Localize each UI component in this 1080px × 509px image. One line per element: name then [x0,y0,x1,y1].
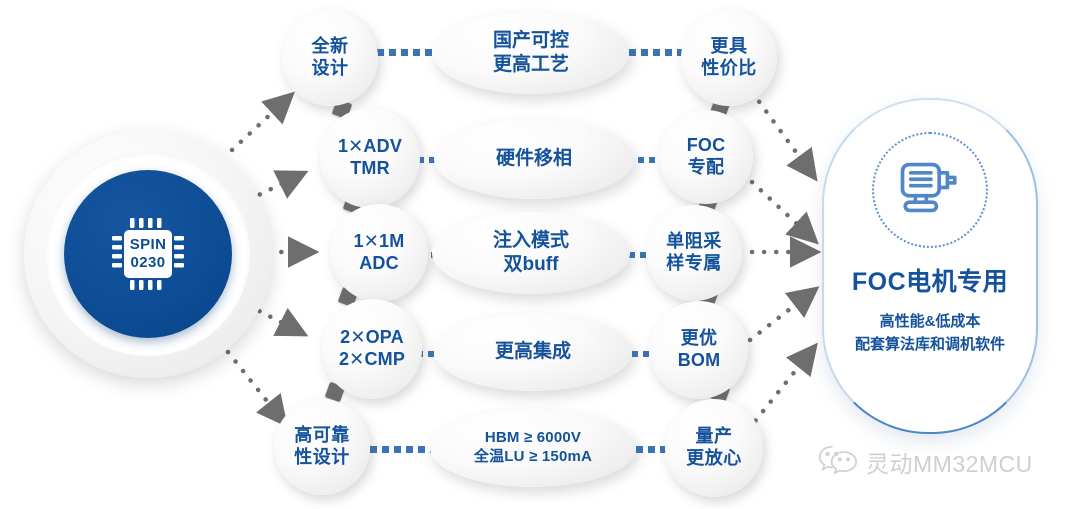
arrow-foc-to-panel [752,182,812,238]
node-single-shunt-line2: 样专属 [666,253,722,275]
hub-core: SPIN 0230 [64,170,232,338]
arrow-bom-to-panel [750,292,812,340]
dash-process-to-cost [629,49,684,56]
arrow-mass-to-panel [748,350,812,430]
node-new-design-line2: 设计 [312,58,349,80]
node-cost-performance-line2: 性价比 [701,58,757,80]
node-better-bom[interactable]: 更优 BOM [650,301,748,399]
watermark: 灵动MM32MCU [818,443,1033,480]
dash-reliability-to-esd [370,446,437,453]
node-reliability-line1: 高可靠 [294,425,350,447]
chip-label: SPIN 0230 [102,208,194,300]
panel-subtitle-line1: 高性能&低成本 [855,310,1005,333]
foc-motor-panel[interactable]: FOC电机专用 高性能&低成本 配套算法库和调机软件 [822,98,1038,434]
node-reliability[interactable]: 高可靠 性设计 [274,399,370,495]
electric-motor-icon [897,159,963,221]
capsule-higher-integration[interactable]: 更高集成 [434,313,632,391]
node-adv-tmr-line2: TMR [338,158,402,180]
capsule-domestic-process-line2: 更高工艺 [493,53,569,77]
node-cost-performance[interactable]: 更具 性价比 [681,10,777,106]
dash-advtmr-to-phaseshift [418,157,435,163]
capsule-hw-phase-shift-line1: 硬件移相 [496,147,572,171]
node-opa-cmp-line2: 2✕CMP [339,349,405,371]
capsule-inject-dual-buff[interactable]: 注入模式 双buff [432,212,630,294]
capsule-inject-dual-buff-line2: 双buff [493,253,569,277]
panel-subtitle-line2: 配套算法库和调机软件 [855,333,1005,356]
chip-label-line2: 0230 [131,254,166,272]
dash-newdesign-to-process [377,49,432,56]
node-mass-production-line2: 更放心 [686,448,742,470]
panel-subtitle: 高性能&低成本 配套算法库和调机软件 [855,310,1005,357]
node-adc-1m[interactable]: 1✕1M ADC [330,204,428,302]
panel-title: FOC电机专用 [852,262,1008,298]
node-adc-1m-line2: ADC [354,253,405,275]
node-better-bom-line2: BOM [678,350,721,372]
capsule-domestic-process[interactable]: 国产可控 更高工艺 [433,12,629,94]
capsule-esd-latchup-line1: HBM ≥ 6000V [474,429,592,448]
dash-phaseshift-to-foc [638,157,655,163]
node-adv-tmr-line1: 1✕ADV [338,136,402,158]
node-foc-dedicated[interactable]: FOC 专配 [659,110,753,204]
dash-integration-to-bom [632,351,649,357]
capsule-higher-integration-line1: 更高集成 [495,340,571,364]
capsule-hw-phase-shift[interactable]: 硬件移相 [434,119,634,199]
node-opa-cmp[interactable]: 2✕OPA 2✕CMP [322,299,422,399]
node-mass-production[interactable]: 量产 更放心 [665,399,763,497]
chip-icon: SPIN 0230 [102,208,194,300]
dash-inject-to-shunt [629,252,646,258]
node-better-bom-line1: 更优 [678,328,721,350]
node-foc-dedicated-line2: 专配 [687,157,726,179]
capsule-esd-latchup-line2: 全温LU ≥ 150mA [474,448,592,467]
capsule-domestic-process-line1: 国产可控 [493,29,569,53]
node-foc-dedicated-line1: FOC [687,135,726,157]
node-adv-tmr[interactable]: 1✕ADV TMR [320,108,420,208]
arrow-cost-to-panel [752,92,812,174]
node-reliability-line2: 性设计 [294,447,350,469]
spin0230-hub: SPIN 0230 [24,130,272,378]
node-opa-cmp-line1: 2✕OPA [339,327,405,349]
chip-label-line1: SPIN [130,236,167,254]
capsule-inject-dual-buff-line1: 注入模式 [493,229,569,253]
motor-icon-ring [872,132,988,248]
node-single-shunt[interactable]: 单阻采 样专属 [646,205,742,301]
node-new-design[interactable]: 全新 设计 [282,10,378,106]
node-mass-production-line1: 量产 [686,426,742,448]
wechat-icon [818,443,858,480]
node-cost-performance-line1: 更具 [701,36,757,58]
capsule-esd-latchup[interactable]: HBM ≥ 6000V 全温LU ≥ 150mA [430,409,636,487]
node-single-shunt-line1: 单阻采 [666,231,722,253]
node-new-design-line1: 全新 [312,36,349,58]
watermark-text: 灵动MM32MCU [866,445,1033,479]
diagram-canvas: SPIN 0230 [0,0,1080,509]
node-adc-1m-line1: 1✕1M [354,231,405,253]
